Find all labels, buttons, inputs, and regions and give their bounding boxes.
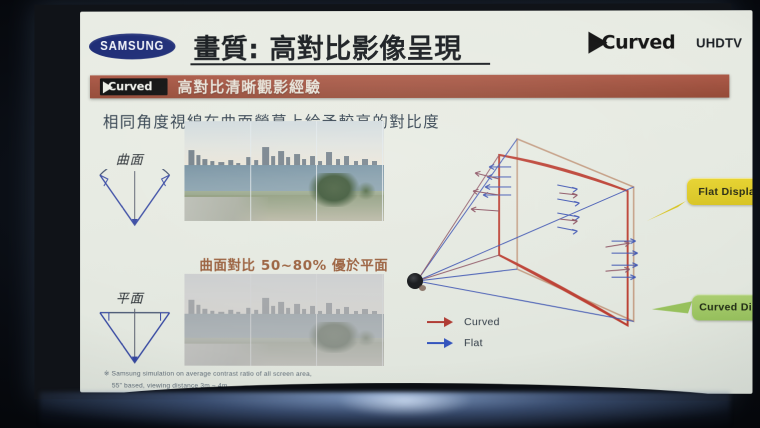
viewer-ear-icon	[419, 285, 426, 291]
photo-skyline	[184, 139, 384, 167]
photo-path	[184, 344, 268, 366]
photo-tree	[352, 329, 380, 349]
ray-diagram: Flat Display Curved Display Curved	[399, 129, 748, 375]
curved-play-mark: Curved	[588, 30, 664, 54]
photo-path	[184, 197, 268, 221]
presentation-slide: SAMSUNG 畫質: 高對比影像呈現 Curved UHDTV Curved …	[80, 10, 752, 394]
flat-fan-label: 平面	[116, 288, 144, 307]
section-banner: Curved 高對比清晰觀影經驗	[90, 75, 729, 99]
photo-of-projected-slide: SAMSUNG 畫質: 高對比影像呈現 Curved UHDTV Curved …	[0, 0, 760, 428]
projection-screen-frame: SAMSUNG 畫質: 高對比影像呈現 Curved UHDTV Curved …	[34, 3, 731, 401]
contrast-note: 曲面對比 50~80% 優於平面	[199, 254, 388, 274]
footnote: ※ Samsung simulation on average contrast…	[104, 368, 312, 391]
samsung-logo: SAMSUNG	[89, 33, 176, 59]
footnote-line-1: ※ Samsung simulation on average contrast…	[104, 368, 312, 380]
curved-viewing-angle-diagram	[92, 169, 178, 231]
photo-skyline	[184, 290, 384, 316]
curved-fan-label: 曲面	[116, 149, 144, 168]
arrow-right-icon	[427, 317, 455, 327]
arrow-right-icon	[427, 338, 455, 348]
callout-flat-display: Flat Display	[687, 178, 752, 205]
diagram-legend: Curved Flat	[427, 311, 500, 353]
samsung-logo-text: SAMSUNG	[100, 40, 164, 54]
page-title: 畫質: 高對比影像呈現	[193, 27, 461, 66]
curved-uhdtv-brand: Curved UHDTV	[588, 30, 742, 54]
photo-high-contrast	[184, 121, 384, 221]
uhdtv-suffix: UHDTV	[696, 35, 742, 50]
photo-tree	[352, 181, 380, 203]
legend-item-curved: Curved	[427, 311, 500, 332]
legend-label: Curved	[464, 316, 500, 328]
curved-brand-word: Curved	[602, 31, 676, 53]
legend-label: Flat	[464, 337, 483, 349]
photo-low-contrast	[184, 274, 384, 366]
banner-curved-badge: Curved	[100, 78, 168, 95]
banner-badge-text: Curved	[108, 79, 152, 93]
footnote-line-2: 55" based, viewing distance 3m ~ 4m	[104, 380, 312, 392]
legend-item-flat: Flat	[427, 332, 500, 353]
flat-viewing-angle-diagram	[92, 307, 178, 369]
projector-light-hotspot	[330, 394, 480, 416]
callout-curved-display: Curved Display	[692, 294, 752, 320]
banner-headline: 高對比清晰觀影經驗	[177, 76, 321, 97]
